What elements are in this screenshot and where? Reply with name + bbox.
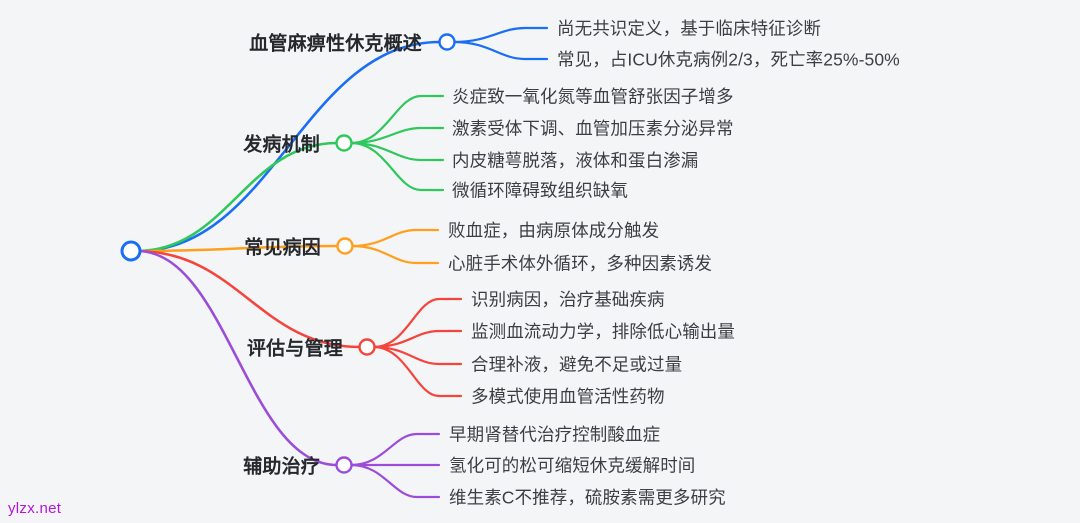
branch-node-2[interactable] [338,239,353,254]
branch-label-4[interactable]: 辅助治疗 [0,452,330,479]
branch-node-circle-4[interactable] [337,458,352,473]
mindmap-canvas: 血管麻痹性休克概述尚无共识定义，基于临床特征诊断常见，占ICU休克病例2/3，死… [0,0,1080,523]
leaf-label-1-0[interactable]: 炎症致一氧化氮等血管舒张因子增多 [452,84,734,109]
edge-branch-2-leaf-1 [352,246,438,263]
branch-label-0[interactable]: 血管麻痹性休克概述 [0,29,432,56]
edge-branch-4-leaf-2 [351,465,439,497]
edge-branch-3-leaf-3 [374,347,461,396]
leaf-label-3-2[interactable]: 合理补液，避免不足或过量 [471,352,682,377]
leaf-label-4-1[interactable]: 氢化可的松可缩短休克缓解时间 [449,453,695,478]
edge-branch-0-leaf-1 [454,42,547,59]
edge-branch-2-leaf-0 [352,230,438,246]
leaf-label-1-3[interactable]: 微循环障碍致组织缺氧 [452,178,628,203]
branch-node-4[interactable] [337,458,352,473]
leaf-label-0-0[interactable]: 尚无共识定义，基于临床特征诊断 [557,16,821,41]
branch-label-2[interactable]: 常见病因 [0,233,331,260]
branch-node-circle-3[interactable] [360,340,375,355]
edge-branch-1-leaf-3 [351,143,443,190]
branch-label-1[interactable]: 发病机制 [0,130,330,157]
leaf-label-4-2[interactable]: 维生素C不推荐，硫胺素需更多研究 [449,485,726,510]
branch-node-circle-1[interactable] [337,136,352,151]
edge-branch-0-leaf-0 [454,28,547,42]
branch-node-circle-0[interactable] [440,35,455,50]
branch-node-circle-2[interactable] [338,239,353,254]
leaf-label-3-3[interactable]: 多模式使用血管活性药物 [471,384,665,409]
leaf-label-0-1[interactable]: 常见，占ICU休克病例2/3，死亡率25%-50% [557,47,900,72]
edge-branch-3-leaf-0 [374,299,461,347]
leaf-label-4-0[interactable]: 早期肾替代治疗控制酸血症 [449,422,660,447]
leaf-label-1-2[interactable]: 内皮糖萼脱落，液体和蛋白渗漏 [452,148,698,173]
leaf-label-3-1[interactable]: 监测血流动力学，排除低心输出量 [471,319,735,344]
leaf-label-2-1[interactable]: 心脏手术体外循环，多种因素诱发 [448,251,712,276]
edge-branch-4-leaf-0 [351,434,439,465]
edge-branch-1-leaf-0 [351,96,443,143]
leaf-label-3-0[interactable]: 识别病因，治疗基础疾病 [471,287,665,312]
branch-node-1[interactable] [337,136,352,151]
leaf-label-2-0[interactable]: 败血症，由病原体成分触发 [448,218,659,243]
branch-label-3[interactable]: 评估与管理 [0,334,353,361]
branch-node-3[interactable] [360,340,375,355]
branch-node-0[interactable] [440,35,455,50]
watermark: ylzx.net [8,500,61,517]
leaf-label-1-1[interactable]: 激素受体下调、血管加压素分泌异常 [452,116,734,141]
